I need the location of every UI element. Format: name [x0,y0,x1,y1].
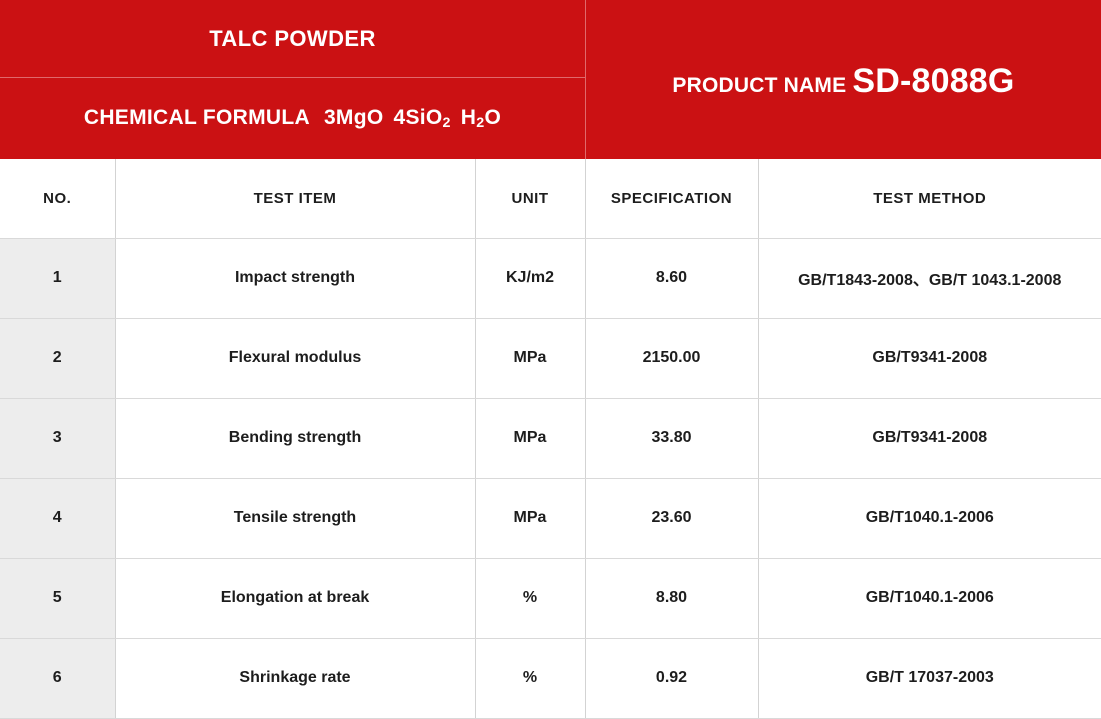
column-header-test-item: TEST ITEM [115,159,475,238]
cell-method: GB/T1843-2008、GB/T 1043.1-2008 [758,238,1101,318]
formula-part-h2o: H2O [461,106,501,129]
cell-no: 6 [0,638,115,718]
specification-table: NO. TEST ITEM UNIT SPECIFICATION TEST ME… [0,159,1101,719]
table-row: 1 Impact strength KJ/m2 8.60 GB/T1843-20… [0,238,1101,318]
cell-method: GB/T 17037-2003 [758,638,1101,718]
table-row: 2 Flexural modulus MPa 2150.00 GB/T9341-… [0,318,1101,398]
product-name-value: SD-8088G [852,62,1014,101]
product-type-row: TALC POWDER [0,0,585,78]
cell-no: 5 [0,558,115,638]
chemical-formula-label: CHEMICAL FORMULA [84,106,310,129]
table-body: 1 Impact strength KJ/m2 8.60 GB/T1843-20… [0,238,1101,718]
cell-item: Impact strength [115,238,475,318]
table-header-row: NO. TEST ITEM UNIT SPECIFICATION TEST ME… [0,159,1101,238]
column-header-spec: SPECIFICATION [585,159,758,238]
cell-item: Shrinkage rate [115,638,475,718]
product-name-label: PRODUCT NAME [672,74,846,98]
chemical-formula-line: CHEMICAL FORMULA3MgO4SiO2H2O [84,106,501,130]
cell-spec: 23.60 [585,478,758,558]
cell-no: 3 [0,398,115,478]
column-header-no: NO. [0,159,115,238]
formula-part-mgo: 3MgO [324,106,384,129]
chemical-formula-row: CHEMICAL FORMULA3MgO4SiO2H2O [0,78,585,158]
table-row: 3 Bending strength MPa 33.80 GB/T9341-20… [0,398,1101,478]
cell-no: 1 [0,238,115,318]
cell-spec: 8.80 [585,558,758,638]
cell-item: Flexural modulus [115,318,475,398]
product-name-group: PRODUCT NAME SD-8088G [672,62,1014,101]
table-header: NO. TEST ITEM UNIT SPECIFICATION TEST ME… [0,159,1101,238]
cell-unit: KJ/m2 [475,238,585,318]
column-header-method: TEST METHOD [758,159,1101,238]
cell-spec: 8.60 [585,238,758,318]
banner-left-panel: TALC POWDER CHEMICAL FORMULA3MgO4SiO2H2O [0,0,585,159]
formula-part-sio2: 4SiO2 [393,106,450,129]
table-row: 4 Tensile strength MPa 23.60 GB/T1040.1-… [0,478,1101,558]
cell-item: Elongation at break [115,558,475,638]
product-header-banner: TALC POWDER CHEMICAL FORMULA3MgO4SiO2H2O… [0,0,1101,159]
cell-method: GB/T9341-2008 [758,398,1101,478]
cell-unit: % [475,638,585,718]
cell-spec: 0.92 [585,638,758,718]
cell-unit: MPa [475,318,585,398]
cell-no: 4 [0,478,115,558]
cell-spec: 2150.00 [585,318,758,398]
cell-no: 2 [0,318,115,398]
table-row: 5 Elongation at break % 8.80 GB/T1040.1-… [0,558,1101,638]
cell-item: Bending strength [115,398,475,478]
spec-sheet-page: TALC POWDER CHEMICAL FORMULA3MgO4SiO2H2O… [0,0,1101,719]
product-type-title: TALC POWDER [209,26,376,52]
cell-unit: MPa [475,478,585,558]
cell-item: Tensile strength [115,478,475,558]
banner-right-panel: PRODUCT NAME SD-8088G [585,0,1101,159]
cell-unit: % [475,558,585,638]
cell-method: GB/T1040.1-2006 [758,478,1101,558]
table-row: 6 Shrinkage rate % 0.92 GB/T 17037-2003 [0,638,1101,718]
cell-unit: MPa [475,398,585,478]
cell-method: GB/T9341-2008 [758,318,1101,398]
column-header-unit: UNIT [475,159,585,238]
cell-spec: 33.80 [585,398,758,478]
cell-method: GB/T1040.1-2006 [758,558,1101,638]
